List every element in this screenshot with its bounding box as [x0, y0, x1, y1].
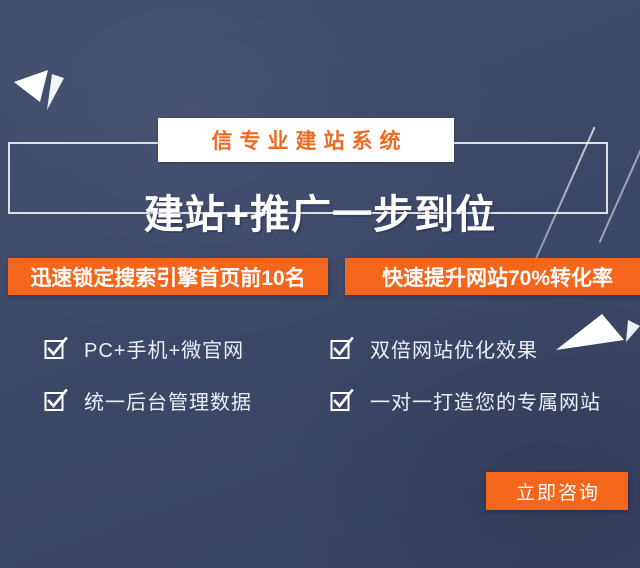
- checkbox-checked-icon: [44, 389, 68, 413]
- feature-item-1: PC+手机+微官网: [44, 334, 244, 363]
- checkbox-checked-icon: [330, 389, 354, 413]
- feature-item-2-label: 双倍网站优化效果: [370, 334, 538, 363]
- paper-plane-top-left: [14, 68, 76, 114]
- title-plate-text: 信专业建站系统: [205, 125, 408, 155]
- highlight-bar-1-text: 迅速锁定搜索引擎首页前10名: [30, 262, 305, 292]
- title-plate: 信专业建站系统: [158, 118, 454, 162]
- consult-now-button[interactable]: 立即咨询: [486, 472, 628, 510]
- promo-banner: 信专业建站系统 建站+推广一步到位 迅速锁定搜索引擎首页前10名 快速提升网站7…: [0, 0, 640, 568]
- page-title: 建站+推广一步到位: [0, 182, 640, 240]
- highlight-bar-2-text: 快速提升网站70%转化率: [382, 262, 613, 292]
- feature-item-3: 统一后台管理数据: [44, 386, 252, 415]
- feature-item-1-label: PC+手机+微官网: [84, 334, 244, 363]
- consult-now-button-label: 立即咨询: [514, 478, 600, 505]
- feature-item-4-label: 一对一打造您的专属网站: [370, 386, 601, 415]
- highlight-bar-2: 快速提升网站70%转化率: [345, 258, 640, 295]
- feature-item-4: 一对一打造您的专属网站: [330, 386, 601, 415]
- feature-item-3-label: 统一后台管理数据: [84, 386, 252, 415]
- checkbox-checked-icon: [330, 337, 354, 361]
- feature-item-2: 双倍网站优化效果: [330, 334, 538, 363]
- highlight-bar-1: 迅速锁定搜索引擎首页前10名: [8, 258, 328, 295]
- checkbox-checked-icon: [44, 337, 68, 361]
- feature-list: PC+手机+微官网 双倍网站优化效果 统一后台管理数据 一对一打造您的专属网站: [0, 330, 640, 430]
